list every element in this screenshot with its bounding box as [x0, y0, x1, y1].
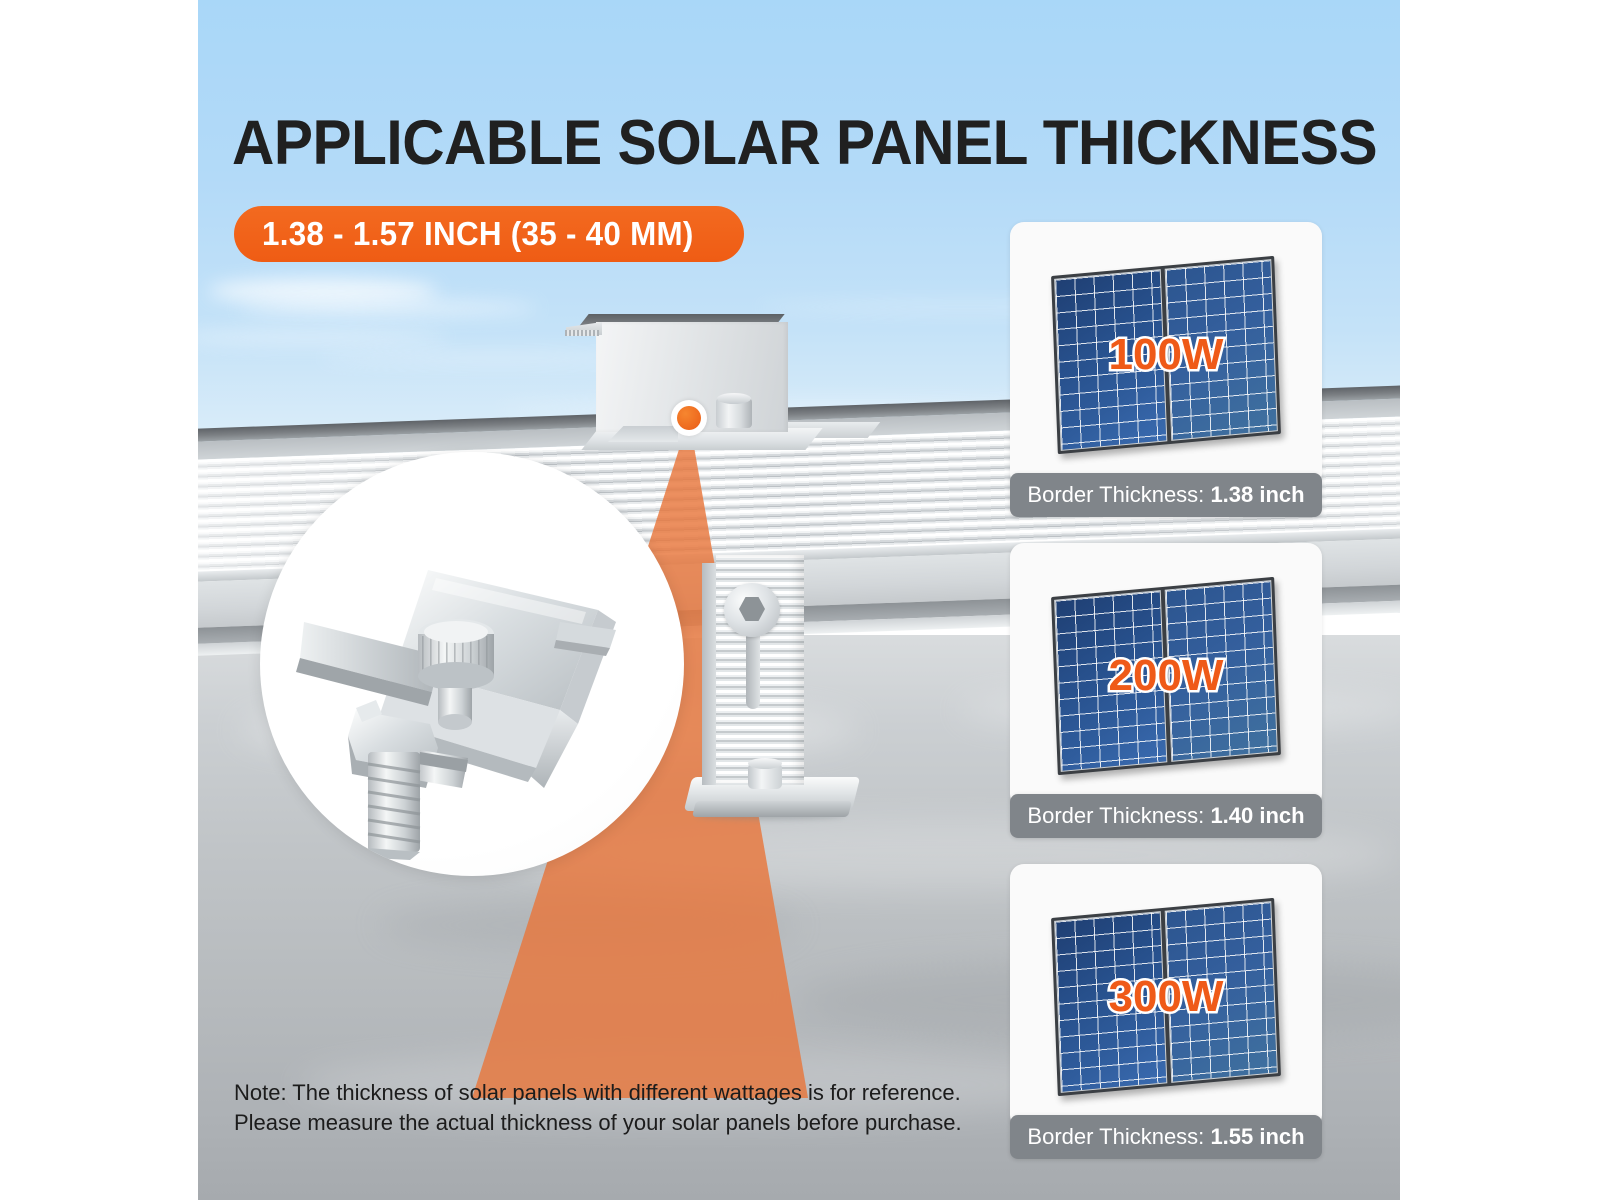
clamp-detail-magnifier	[260, 452, 684, 876]
footnote: Note: The thickness of solar panels with…	[234, 1078, 994, 1137]
panel-image-area: 200W	[1010, 543, 1322, 808]
border-thickness-bar: Border Thickness: 1.40 inch	[1010, 794, 1322, 838]
border-thickness-label: Border Thickness:	[1027, 482, 1204, 507]
panel-spec-card-list: 100W Border Thickness: 1.38 inch 200W Bo…	[1010, 222, 1340, 1185]
border-thickness-bar: Border Thickness: 1.55 inch	[1010, 1115, 1322, 1159]
panel-image-area: 100W	[1010, 222, 1322, 487]
thickness-badge-label: 1.38 - 1.57 INCH (35 - 40 MM)	[262, 215, 694, 253]
page-title: APPLICABLE SOLAR PANEL THICKNESS	[232, 112, 1377, 175]
magnifier-focus-point-icon	[671, 400, 707, 436]
panel-spec-card[interactable]: 200W Border Thickness: 1.40 inch	[1010, 543, 1322, 838]
border-thickness-label: Border Thickness:	[1027, 1124, 1204, 1149]
wattage-label: 300W	[1109, 972, 1224, 1022]
product-infographic: APPLICABLE SOLAR PANEL THICKNESS 1.38 - …	[0, 0, 1600, 1200]
footnote-line-1: Note: The thickness of solar panels with…	[234, 1078, 994, 1108]
footnote-line-2: Please measure the actual thickness of y…	[234, 1108, 994, 1138]
l-foot-bracket	[688, 555, 858, 835]
border-thickness-value: 1.40 inch	[1210, 803, 1304, 828]
wattage-label: 100W	[1109, 330, 1224, 380]
panel-spec-card[interactable]: 300W Border Thickness: 1.55 inch	[1010, 864, 1322, 1159]
wattage-label: 200W	[1109, 651, 1224, 701]
thickness-badge: 1.38 - 1.57 INCH (35 - 40 MM)	[234, 206, 744, 262]
panel-image-area: 300W	[1010, 864, 1322, 1129]
border-thickness-value: 1.38 inch	[1210, 482, 1304, 507]
border-thickness-bar: Border Thickness: 1.38 inch	[1010, 473, 1322, 517]
panel-spec-card[interactable]: 100W Border Thickness: 1.38 inch	[1010, 222, 1322, 517]
border-thickness-label: Border Thickness:	[1027, 803, 1204, 828]
photo-canvas: APPLICABLE SOLAR PANEL THICKNESS 1.38 - …	[198, 0, 1400, 1200]
border-thickness-value: 1.55 inch	[1210, 1124, 1304, 1149]
